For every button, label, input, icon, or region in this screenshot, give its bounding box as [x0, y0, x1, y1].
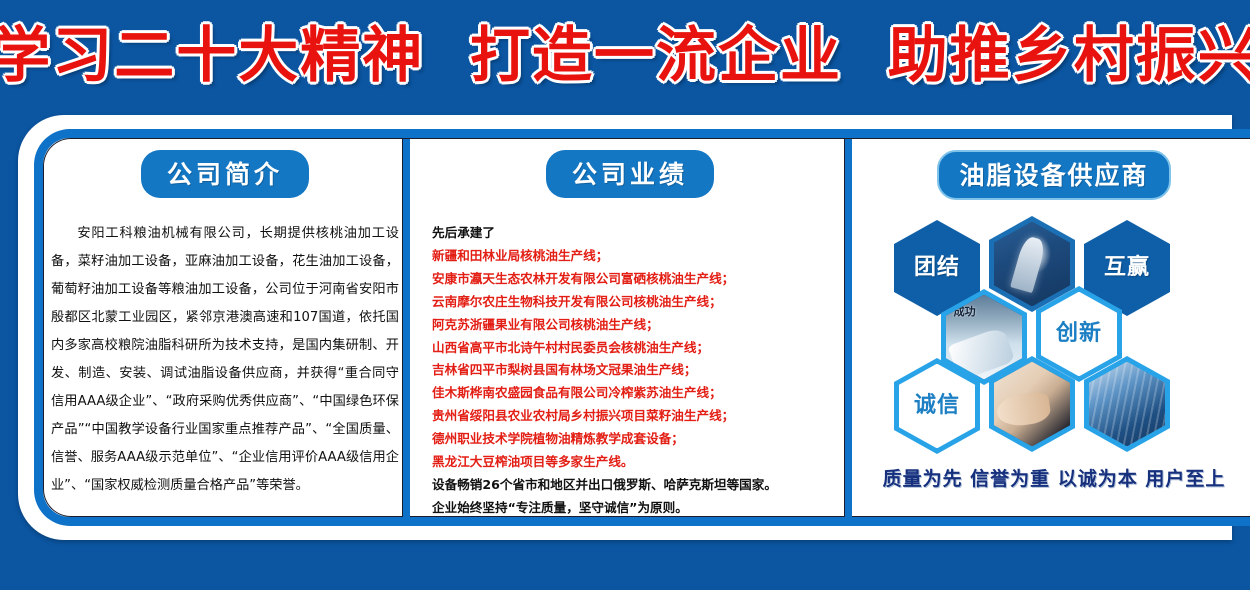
- performance-project-item: 吉林省四平市梨树县国有林场文冠果油生产线；: [432, 359, 828, 382]
- hex-label: 互赢: [1104, 257, 1150, 279]
- performance-project-item: 佳木斯桦南农盛园食品有限公司冷榨紫苏油生产线；: [432, 382, 828, 405]
- company-intro-text: 安阳工科粮油机械有限公司，长期提供核桃油加工设备，菜籽油加工设备，亚麻油加工设备…: [47, 220, 403, 500]
- company-title-wrap: 公司简介: [47, 150, 403, 198]
- performance-footer-list: 设备畅销26个省市和地区并出口俄罗斯、哈萨克斯坦等国家。企业始终坚持“专注质量，…: [432, 474, 828, 520]
- panel-divider-1: [403, 139, 410, 517]
- aircraft-carrier-photo: [994, 222, 1070, 307]
- supplier-title-wrap: 油脂设备供应商: [858, 150, 1250, 200]
- performance-project-item: 黑龙江大豆榨油项目等多家生产线。: [432, 451, 828, 474]
- hex-label: 诚信: [914, 395, 960, 417]
- performance-project-item: 云南摩尔农庄生物科技开发有限公司核桃油生产线；: [432, 291, 828, 314]
- performance-project-item: 德州职业技术学院植物油精炼教学成套设备；: [432, 428, 828, 451]
- panel-company-intro: 公司简介 安阳工科粮油机械有限公司，长期提供核桃油加工设备，菜籽油加工设备，亚麻…: [47, 150, 403, 505]
- supplier-title-pill: 油脂设备供应商: [937, 150, 1170, 200]
- performance-text-block: 先后承建了 新疆和田林业局核桃油生产线；安康市瀛天生态农林开发有限公司富硒核桃油…: [418, 222, 842, 520]
- performance-project-item: 山西省高平市北诗午村村民委员会核桃油生产线；: [432, 337, 828, 360]
- performance-project-item: 新疆和田林业局核桃油生产线；: [432, 245, 828, 268]
- header-banner: 学习二十大精神 打造一流企业 助推乡村振兴: [0, 0, 1250, 112]
- performance-project-item: 贵州省绥阳县农业农村局乡村振兴项目菜籽油生产线；: [432, 405, 828, 428]
- hex-label: 团结: [914, 257, 960, 279]
- skyscraper-photo: [1089, 362, 1165, 447]
- panel-supplier: 油脂设备供应商 团结互赢成功创新诚信 质量为先 信誉为重 以诚为本 用户至上: [858, 150, 1250, 505]
- page-title: 学习二十大精神 打造一流企业 助推乡村振兴: [0, 26, 1250, 86]
- panel-company-performance: 公司业绩 先后承建了 新疆和田林业局核桃油生产线；安康市瀛天生态农林开发有限公司…: [418, 150, 842, 505]
- handshake-photo: [994, 362, 1070, 447]
- performance-footer-item: 设备畅销26个省市和地区并出口俄罗斯、哈萨克斯坦等国家。: [432, 474, 828, 497]
- robot-arm-photo: 成功: [946, 295, 1022, 380]
- company-title-pill: 公司简介: [141, 150, 309, 198]
- performance-project-list: 新疆和田林业局核桃油生产线；安康市瀛天生态农林开发有限公司富硒核桃油生产线；云南…: [432, 245, 828, 474]
- performance-project-item: 阿克苏浙疆果业有限公司核桃油生产线；: [432, 314, 828, 337]
- performance-title-pill: 公司业绩: [546, 150, 714, 198]
- supplier-slogan: 质量为先 信誉为重 以诚为本 用户至上: [858, 464, 1250, 491]
- supplier-hex-diagram: 团结互赢成功创新诚信: [858, 216, 1250, 456]
- panel-divider-2: [845, 139, 852, 517]
- hex-label: 创新: [1056, 323, 1102, 345]
- performance-title-wrap: 公司业绩: [418, 150, 842, 198]
- performance-project-item: 安康市瀛天生态农林开发有限公司富硒核桃油生产线；: [432, 268, 828, 291]
- performance-intro: 先后承建了: [432, 222, 828, 245]
- performance-footer-item: 企业始终坚持“专注质量，坚守诚信”为原则。: [432, 497, 828, 520]
